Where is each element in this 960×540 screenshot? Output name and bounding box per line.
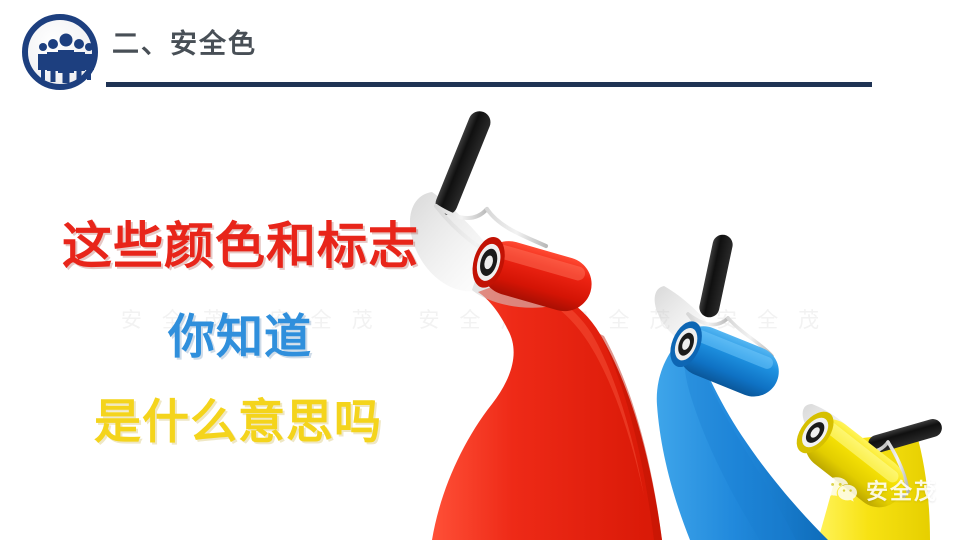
slide-canvas: 安全茂 安全茂 安全茂 安全茂 安全茂 — [0, 0, 960, 540]
blue-paint-stripe — [657, 330, 828, 540]
group-of-people-icon — [37, 33, 95, 83]
headline-line-2: 你知道 — [168, 298, 312, 367]
wechat-icon — [824, 476, 858, 504]
organization-logo — [22, 14, 98, 90]
page-title-block: 二、安全色 — [112, 26, 892, 62]
wechat-account-name: 安全茂 — [866, 474, 938, 506]
page-title: 二、安全色 — [112, 26, 892, 62]
headline-line-3: 是什么意思吗 — [94, 383, 382, 452]
wechat-branding: 安全茂 — [824, 474, 938, 506]
yellow-roller-handle — [866, 417, 944, 455]
title-underline-rule — [106, 82, 872, 87]
headline-line-1: 这些颜色和标志 — [62, 206, 419, 278]
slide-header: 二、安全色 — [0, 0, 960, 100]
